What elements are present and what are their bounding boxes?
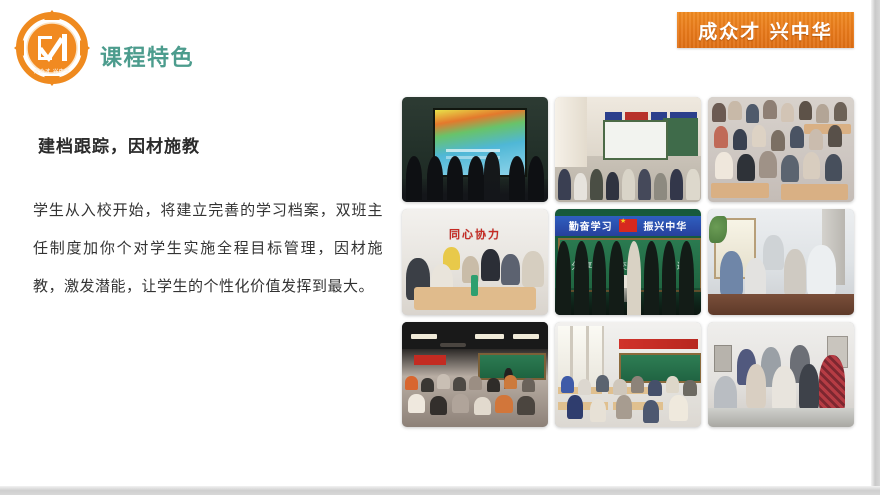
slogan-ribbon-text: 成众才 兴中华	[698, 17, 833, 44]
window-frame	[586, 326, 589, 387]
photo-scene-projector	[402, 97, 548, 202]
student-figure	[654, 173, 667, 200]
china-flag-icon	[619, 219, 638, 231]
student-figure	[408, 394, 426, 413]
student-figure	[613, 379, 626, 396]
plant	[709, 216, 727, 243]
ceiling-lamp	[411, 334, 437, 338]
banner-text-left: 勤奋学习	[569, 218, 613, 233]
student-head	[609, 241, 624, 315]
student-figure	[405, 376, 418, 390]
student-figure	[771, 130, 786, 151]
brand-logo-subtext: 成众才 兴中华	[12, 68, 92, 75]
student-figure	[799, 101, 812, 120]
student-figure	[737, 154, 755, 181]
student-head	[528, 156, 544, 200]
student-figure	[807, 245, 836, 296]
student-figure	[733, 129, 748, 150]
student-head	[644, 241, 659, 315]
student-figure	[746, 104, 759, 123]
scrollbar-vertical[interactable]	[871, 0, 880, 495]
student-figure	[752, 125, 767, 146]
student-figure	[803, 152, 821, 179]
student-figure	[746, 364, 766, 408]
brand-logo: 成众才 兴中华	[12, 8, 92, 88]
student-figure	[715, 152, 733, 179]
student-figure	[574, 173, 587, 200]
student-figure	[781, 155, 799, 182]
ceiling-fan	[440, 343, 466, 347]
student-figure	[745, 258, 767, 298]
photo-scene-desk-help	[708, 322, 854, 427]
student-figure	[606, 172, 619, 200]
student-head	[574, 241, 589, 315]
wall-slogan: 同心协力	[420, 220, 531, 247]
student-figure	[504, 375, 517, 389]
wall-banner	[414, 355, 446, 364]
ceiling-lamp	[513, 334, 539, 338]
student-figure	[763, 235, 783, 271]
gallery-photo-9[interactable]	[708, 322, 854, 427]
gallery-photo-4[interactable]: 同心协力	[402, 209, 548, 314]
slide-canvas: 成众才 兴中华 课程特色 成众才 兴中华 建档跟踪，因材施教 学生从入校开始，将…	[0, 0, 880, 495]
student-figure	[772, 366, 795, 412]
desk	[708, 408, 854, 427]
student-head	[406, 156, 422, 200]
student-figure	[790, 126, 805, 147]
student-figure	[643, 400, 659, 423]
student-figure	[622, 169, 635, 200]
wall-banner	[619, 339, 698, 350]
student-figure	[763, 100, 776, 119]
student-figure	[481, 249, 500, 281]
student-figure	[430, 396, 448, 415]
banner-text-right: 振兴中华	[643, 218, 687, 233]
student-figure	[799, 364, 819, 410]
classroom-banner: 勤奋学习 振兴中华	[555, 216, 701, 236]
student-figure	[714, 126, 729, 147]
student-seating	[555, 152, 701, 203]
student-figure	[712, 103, 725, 122]
student-figure	[501, 254, 520, 286]
student-head	[427, 156, 443, 200]
student-figure	[819, 355, 845, 412]
photo-scene-bright-classroom	[555, 322, 701, 427]
student-figure	[669, 395, 688, 420]
student-figure	[453, 377, 466, 391]
student-figure	[728, 101, 741, 120]
student-figure	[487, 378, 500, 392]
student-figure	[834, 102, 847, 121]
student-figure	[825, 154, 843, 181]
photo-scene-group	[708, 97, 854, 202]
student-figure	[452, 394, 470, 413]
gallery-photo-5[interactable]: 勤奋学习 振兴中华 分享 交流 传递	[555, 209, 701, 314]
page-title: 课程特色	[100, 40, 194, 72]
student-figure	[567, 395, 583, 418]
gallery-photo-8[interactable]	[555, 322, 701, 427]
student-figure	[666, 376, 679, 393]
student-head	[627, 241, 642, 315]
desk	[781, 184, 848, 200]
student-figure	[638, 169, 651, 200]
student-head	[468, 156, 484, 200]
wall-banner	[605, 112, 623, 120]
photo-scene-banner-classroom: 勤奋学习 振兴中华 分享 交流 传递	[555, 209, 701, 314]
gallery-photo-2[interactable]	[555, 97, 701, 202]
gallery-photo-7[interactable]	[402, 322, 548, 427]
photo-scene-lecture-hall	[402, 322, 548, 427]
gallery-photo-3[interactable]	[708, 97, 854, 202]
desk	[711, 183, 769, 198]
study-table	[708, 294, 854, 315]
student-head	[447, 156, 463, 200]
wall-frame	[714, 345, 732, 372]
copy-block: 建档跟踪，因材施教 学生从入校开始，将建立完善的学习档案，双班主任制度加你个对学…	[33, 132, 383, 305]
student-figure	[648, 380, 661, 397]
ceiling-lamp	[475, 334, 504, 338]
copy-body: 学生从入校开始，将建立完善的学习档案，双班主任制度加你个对学生实施全程目标管理，…	[33, 191, 383, 305]
photo-scene-discussion: 同心协力	[402, 209, 548, 314]
audience-row	[402, 372, 548, 427]
student-figure	[816, 104, 829, 123]
student-figure	[517, 396, 535, 415]
photo-gallery: 同心协力 勤奋学习 振兴中华 分享	[402, 97, 854, 427]
student-figure	[495, 395, 513, 414]
student-figure	[437, 374, 450, 388]
student-figure	[590, 399, 606, 422]
student-figure	[631, 376, 644, 393]
student-figure	[759, 151, 777, 178]
water-bottle	[471, 275, 478, 296]
student-figure	[522, 378, 535, 392]
slogan-ribbon: 成众才 兴中华	[677, 12, 854, 48]
student-figure	[784, 249, 806, 295]
copy-heading: 建档跟踪，因材施教	[38, 132, 383, 157]
gallery-photo-1[interactable]	[402, 97, 548, 202]
student-figure	[781, 103, 794, 122]
student-figure	[683, 380, 696, 397]
scrollbar-horizontal[interactable]	[0, 486, 880, 495]
student-figure	[828, 125, 843, 146]
student-head	[592, 241, 607, 315]
student-figure	[561, 376, 574, 393]
student-figure	[590, 169, 603, 200]
student-head	[556, 241, 571, 315]
slide-header: 成众才 兴中华 课程特色	[12, 8, 194, 88]
student-head	[679, 241, 694, 315]
student-figure	[670, 169, 683, 200]
student-figure	[522, 251, 544, 287]
wall-banner	[625, 112, 648, 120]
student-figure	[558, 169, 571, 200]
student-figure	[469, 376, 482, 390]
student-figure	[616, 395, 632, 418]
student-figure	[720, 251, 743, 295]
student-figure	[596, 375, 609, 392]
student-figure	[578, 379, 591, 396]
photo-scene-study-group	[708, 209, 854, 314]
photo-scene-classroom	[555, 97, 701, 202]
student-figure	[809, 129, 824, 150]
student-figure	[421, 378, 434, 392]
student-figure	[686, 169, 699, 200]
brand-logo-icon	[12, 8, 92, 88]
gallery-photo-6[interactable]	[708, 209, 854, 314]
student-figure	[474, 397, 492, 416]
student-head	[509, 156, 525, 200]
student-head	[662, 241, 677, 315]
